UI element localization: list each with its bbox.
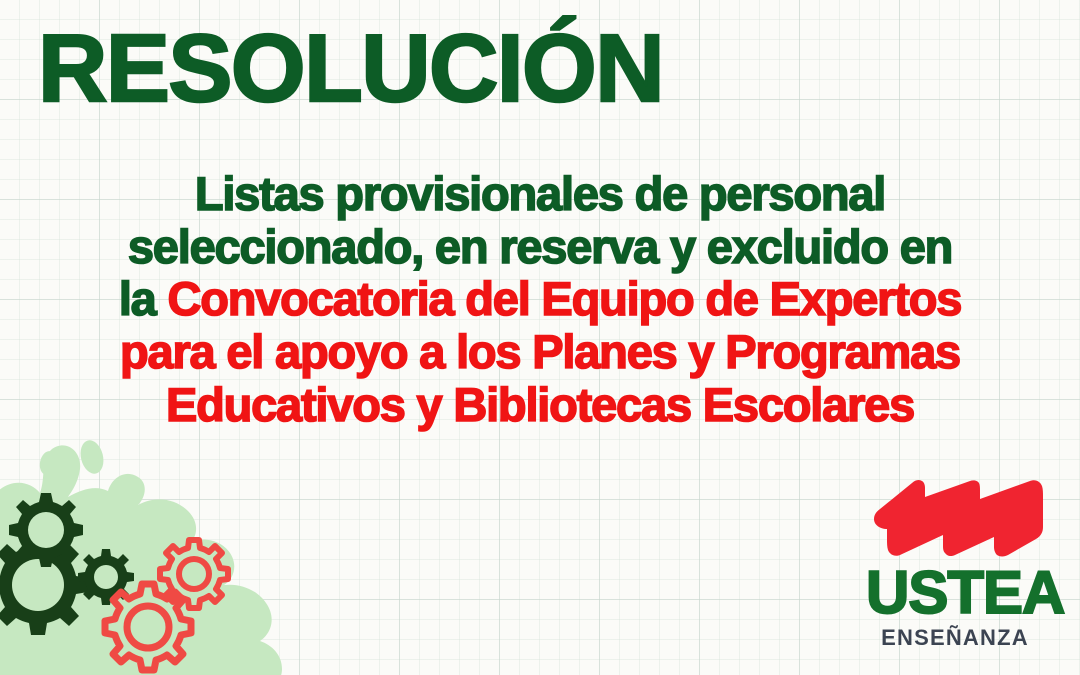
paint-splatter-decoration [0, 433, 316, 675]
resolution-poster: RESOLUCIÓN Listas provisionales de perso… [0, 0, 1080, 675]
body-line-1-text: Listas provisionales de personal [195, 167, 885, 220]
body-line-4-text: para el apoyo a los Planes y Programas [120, 325, 960, 378]
body-copy: Listas provisionales de personal selecci… [0, 168, 1080, 431]
body-line-4: para el apoyo a los Planes y Programas [0, 326, 1080, 379]
body-line-2-text: seleccionado, en reserva y excluido en [128, 220, 952, 273]
body-line-5-text: Educativos y Bibliotecas Escolares [166, 378, 914, 431]
logo-wordmark: USTEA [866, 563, 1072, 623]
body-line-1: Listas provisionales de personal [0, 168, 1080, 221]
ustea-logo: USTEA ENSEÑANZA [860, 471, 1072, 661]
lightning-bolt-icon [860, 471, 1072, 563]
body-line-3-prefix: la [119, 272, 168, 325]
body-line-5: Educativos y Bibliotecas Escolares [0, 379, 1080, 432]
body-line-3-highlight: Convocatoria del Equipo de Expertos [167, 272, 961, 325]
logo-subtitle: ENSEÑANZA [860, 627, 1050, 649]
gear-icon-dark-medium [9, 493, 83, 567]
body-line-2: seleccionado, en reserva y excluido en [0, 221, 1080, 274]
page-title: RESOLUCIÓN [38, 22, 663, 116]
body-line-3: la Convocatoria del Equipo de Expertos [0, 273, 1080, 326]
